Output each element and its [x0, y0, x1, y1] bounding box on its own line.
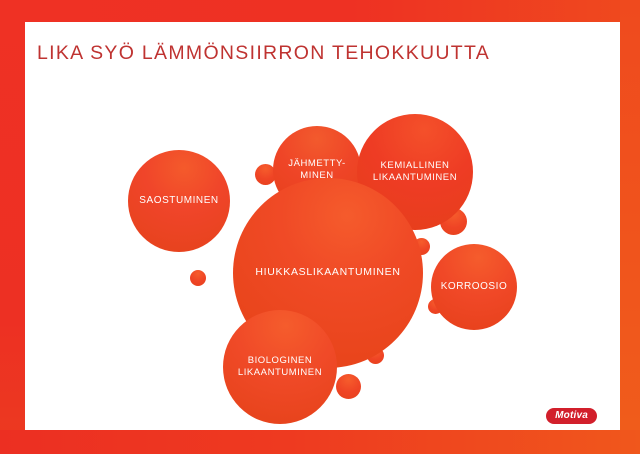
motiva-logo: Motiva — [546, 408, 597, 424]
bubble-label: SAOSTUMINEN — [139, 195, 218, 208]
poster-root: LIKA SYÖ LÄMMÖNSIIRRON TEHOKKUUTTA SAOST… — [0, 0, 640, 454]
bubble-label: HIUKKASLIKAANTUMINEN — [255, 266, 400, 279]
bubble-label: KEMIALLINEN LIKAANTUMINEN — [373, 160, 457, 184]
decorative-bubble-dot — [190, 270, 206, 286]
decorative-bubble-dot — [336, 374, 361, 399]
motiva-logo-text: Motiva — [555, 410, 588, 421]
bubble-korroosio: KORROOSIO — [431, 244, 517, 330]
frame-border-top — [0, 0, 640, 22]
bubble-label: KORROOSIO — [441, 281, 508, 294]
frame-border-bottom — [0, 430, 640, 454]
frame-border-right — [620, 0, 640, 454]
page-title: LIKA SYÖ LÄMMÖNSIIRRON TEHOKKUUTTA — [37, 42, 490, 65]
frame-border-left — [0, 0, 25, 454]
bubble-biologinen-likaantuminen: BIOLOGINEN LIKAANTUMINEN — [223, 310, 337, 424]
bubble-saostuminen: SAOSTUMINEN — [128, 150, 230, 252]
bubble-label: BIOLOGINEN LIKAANTUMINEN — [238, 355, 322, 379]
poster-canvas: LIKA SYÖ LÄMMÖNSIIRRON TEHOKKUUTTA SAOST… — [25, 22, 620, 430]
